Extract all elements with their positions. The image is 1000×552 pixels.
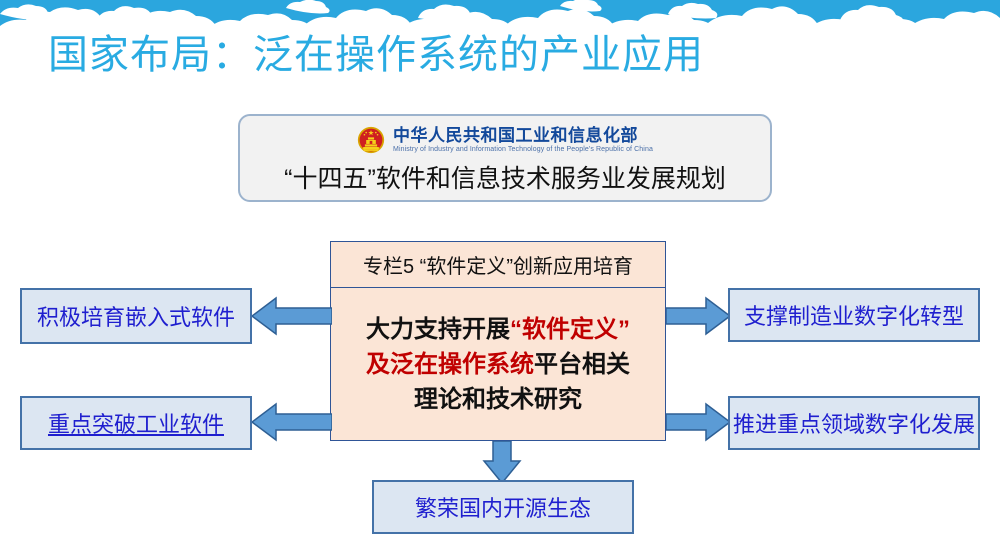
central-box-body-line: 大力支持开展“软件定义” — [366, 312, 630, 347]
outcome-box-left-2[interactable]: 重点突破工业软件 — [20, 396, 252, 450]
policy-document-card: 中华人民共和国工业和信息化部 Ministry of Industry and … — [238, 114, 772, 202]
cloud-banner-graphic — [0, 0, 1000, 36]
central-box-body-segment: “软件定义” — [510, 316, 630, 343]
arrow-center-to-left-2 — [252, 402, 332, 442]
outcome-box-left-1[interactable]: 积极培育嵌入式软件 — [20, 288, 252, 344]
arrow-center-to-right-1 — [666, 296, 730, 336]
arrow-center-to-right-2 — [666, 402, 730, 442]
outcome-box-right-2[interactable]: 推进重点领域数字化发展 — [728, 396, 980, 450]
page-title: 国家布局：泛在操作系统的产业应用 — [48, 32, 704, 78]
ministry-text-block: 中华人民共和国工业和信息化部 Ministry of Industry and … — [393, 126, 653, 154]
china-national-emblem-icon — [357, 126, 385, 154]
central-box-body-segment: 及泛在操作系统 — [366, 351, 534, 378]
central-box-body-segment: 理论和技术研究 — [414, 386, 582, 413]
ministry-name-cn: 中华人民共和国工业和信息化部 — [393, 126, 653, 145]
arrow-center-to-bottom — [480, 441, 524, 483]
central-box-body-line: 及泛在操作系统平台相关 — [366, 347, 630, 382]
outcome-box-right-1[interactable]: 支撑制造业数字化转型 — [728, 288, 980, 342]
outcome-box-bottom[interactable]: 繁荣国内开源生态 — [372, 480, 634, 534]
header-cloud-banner — [0, 0, 1000, 36]
central-box-header: 专栏5 “软件定义”创新应用培育 — [331, 242, 665, 288]
central-box-body-segment: 大力支持开展 — [366, 316, 510, 343]
central-focus-box: 专栏5 “软件定义”创新应用培育 大力支持开展“软件定义”及泛在操作系统平台相关… — [330, 241, 666, 441]
central-box-body: 大力支持开展“软件定义”及泛在操作系统平台相关理论和技术研究 — [331, 288, 665, 440]
ministry-name-en: Ministry of Industry and Information Tec… — [393, 145, 653, 154]
policy-plan-title: “十四五”软件和信息技术服务业发展规划 — [240, 164, 770, 194]
central-box-body-segment: 平台相关 — [534, 351, 630, 378]
central-box-body-line: 理论和技术研究 — [414, 382, 582, 417]
arrow-center-to-left-1 — [252, 296, 332, 336]
ministry-header: 中华人民共和国工业和信息化部 Ministry of Industry and … — [240, 120, 770, 160]
